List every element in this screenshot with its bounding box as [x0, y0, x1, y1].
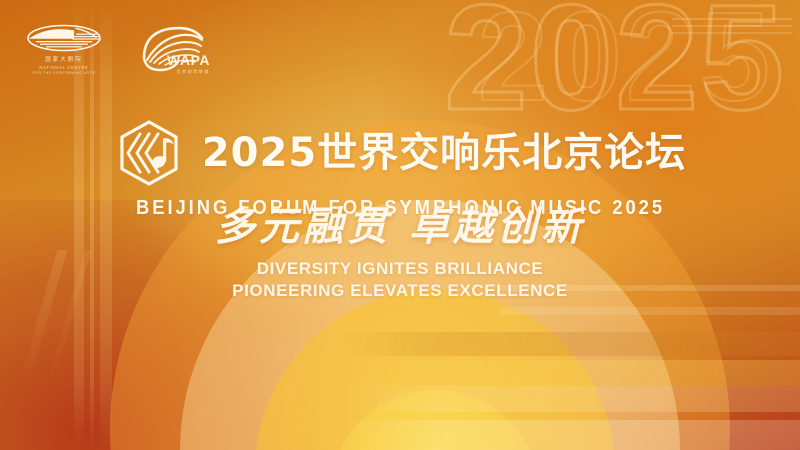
- slogan-calligraphy: 多元融贯 卓越创新: [0, 207, 800, 247]
- title-row: 2025世界交响乐北京论坛: [114, 118, 686, 188]
- symphonic-forum-poster: 2025 2025 国家大剧院 NATIO: [0, 0, 800, 450]
- logo-bar: 国家大剧院 NATIONAL CENTRE FOR THE PERFORMING…: [26, 24, 210, 81]
- ncpa-chinese-name: 国家大剧院: [26, 55, 102, 63]
- slogan-english-line1: DIVERSITY IGNITES BRILLIANCE: [0, 258, 800, 280]
- decorative-top-right-lines: [672, 18, 792, 108]
- slogan-english-line2: PIONEERING ELEVATES EXCELLENCE: [0, 280, 800, 302]
- ncpa-dome-logo-icon: [26, 24, 102, 52]
- wapa-logo: WAPA 世界剧院联盟: [138, 24, 210, 81]
- slogan-english: DIVERSITY IGNITES BRILLIANCE PIONEERING …: [0, 258, 800, 303]
- hexagon-music-note-emblem-icon: [114, 118, 184, 188]
- ncpa-english-line2: FOR THE PERFORMING ARTS: [26, 71, 102, 75]
- ncpa-logo: 国家大剧院 NATIONAL CENTRE FOR THE PERFORMING…: [26, 24, 102, 75]
- wapa-chinese-name: 世界剧院联盟: [167, 69, 210, 75]
- wapa-name: WAPA: [167, 53, 210, 67]
- title-chinese: 2025世界交响乐北京论坛: [202, 133, 686, 173]
- ncpa-english-line1: NATIONAL CENTRE: [26, 65, 102, 70]
- wapa-text-block: WAPA 世界剧院联盟: [167, 53, 210, 75]
